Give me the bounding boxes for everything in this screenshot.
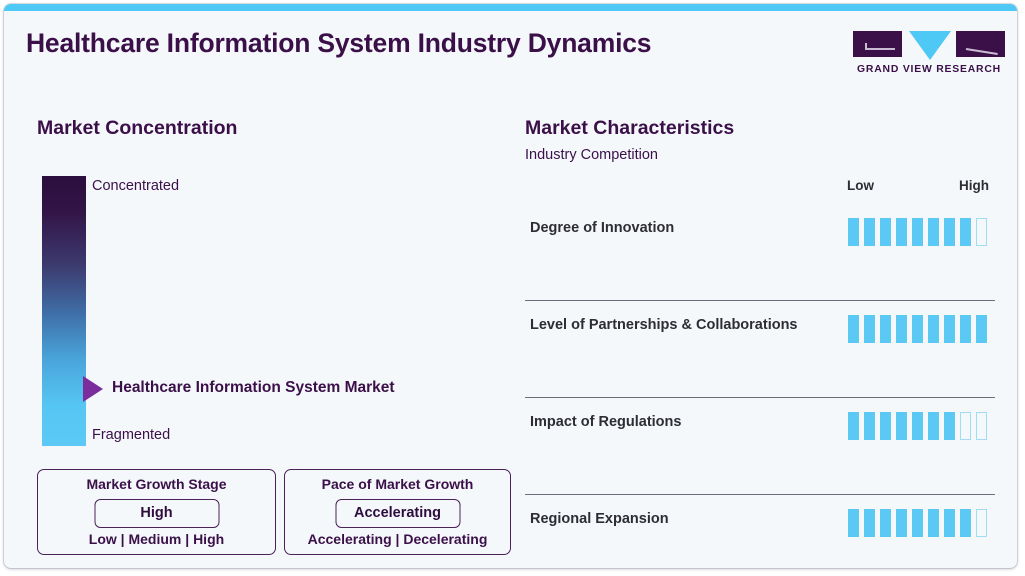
characteristics-rows: Degree of InnovationLevel of Partnership… [525,204,995,568]
meter-segment-filled [864,315,875,343]
pace-of-market-growth-scale: Accelerating | Decelerating [285,531,510,547]
meter-segment-filled [960,218,971,246]
meter-segment-filled [896,412,907,440]
logo-box-left-icon [853,31,902,57]
market-position-marker-icon [83,376,103,402]
meter-segment-filled [944,315,955,343]
grand-view-research-logo: GRAND VIEW RESEARCH [853,31,1005,83]
characteristic-meter [848,218,987,246]
meter-segment-filled [944,218,955,246]
meter-segment-filled [896,315,907,343]
market-growth-stage-box: Market Growth Stage High Low | Medium | … [37,469,276,555]
meter-segment-filled [912,509,923,537]
pace-of-market-growth-title: Pace of Market Growth [285,476,510,492]
meter-segment-filled [912,412,923,440]
market-growth-stage-scale: Low | Medium | High [38,531,275,547]
characteristic-label: Impact of Regulations [530,413,820,432]
meter-segment-filled [896,509,907,537]
characteristic-label: Regional Expansion [530,510,820,529]
meter-segment-filled [976,315,987,343]
market-position-marker-label: Healthcare Information System Market [112,379,395,397]
logo-tick-left-icon [865,43,867,49]
characteristic-row: Impact of Regulations [525,398,995,495]
market-concentration-heading: Market Concentration [37,117,237,140]
meter-segment-empty [976,412,987,440]
meter-segment-empty [976,509,987,537]
meter-segment-filled [880,218,891,246]
infographic-card: Healthcare Information System Industry D… [4,4,1017,568]
meter-segment-filled [864,218,875,246]
meter-segment-filled [912,315,923,343]
characteristic-label: Degree of Innovation [530,219,820,238]
meter-segment-filled [848,218,859,246]
logo-triangle-icon [909,31,951,60]
characteristic-meter [848,509,987,537]
meter-segment-filled [944,412,955,440]
meter-segment-filled [880,315,891,343]
meter-segment-filled [864,412,875,440]
meter-segment-filled [880,509,891,537]
meter-segment-filled [928,509,939,537]
characteristic-row: Level of Partnerships & Collaborations [525,301,995,398]
logo-marks [853,31,1005,61]
characteristic-row: Regional Expansion [525,495,995,568]
meter-segment-filled [880,412,891,440]
meter-segment-empty [960,412,971,440]
market-growth-stage-title: Market Growth Stage [38,476,275,492]
meter-segment-filled [960,315,971,343]
meter-segment-filled [928,218,939,246]
characteristic-meter [848,412,987,440]
concentration-gradient-bar [42,176,86,446]
pace-of-market-growth-value: Accelerating [335,499,460,528]
meter-segment-filled [848,509,859,537]
market-characteristics-subheading: Industry Competition [525,147,658,163]
meter-segment-filled [848,412,859,440]
meter-segment-filled [864,509,875,537]
meter-segment-filled [960,509,971,537]
logo-wordmark: GRAND VIEW RESEARCH [853,64,1005,75]
characteristic-meter [848,315,987,343]
meter-segment-empty [976,218,987,246]
meter-segment-filled [896,218,907,246]
meter-segment-filled [912,218,923,246]
market-growth-stage-value: High [94,499,219,528]
meter-segment-filled [848,315,859,343]
meter-segment-filled [928,412,939,440]
pace-of-market-growth-box: Pace of Market Growth Accelerating Accel… [284,469,511,555]
market-characteristics-heading: Market Characteristics [525,117,734,140]
characteristic-label: Level of Partnerships & Collaborations [530,316,820,335]
concentration-top-label: Concentrated [92,178,179,194]
logo-slash-left-icon [865,48,895,50]
concentration-bottom-label: Fragmented [92,427,170,443]
page-title: Healthcare Information System Industry D… [26,28,651,59]
meter-segment-filled [928,315,939,343]
scale-label-high: High [959,178,989,193]
top-accent-bar [4,4,1017,11]
meter-segment-filled [944,509,955,537]
scale-label-low: Low [847,178,874,193]
characteristic-row: Degree of Innovation [525,204,995,301]
